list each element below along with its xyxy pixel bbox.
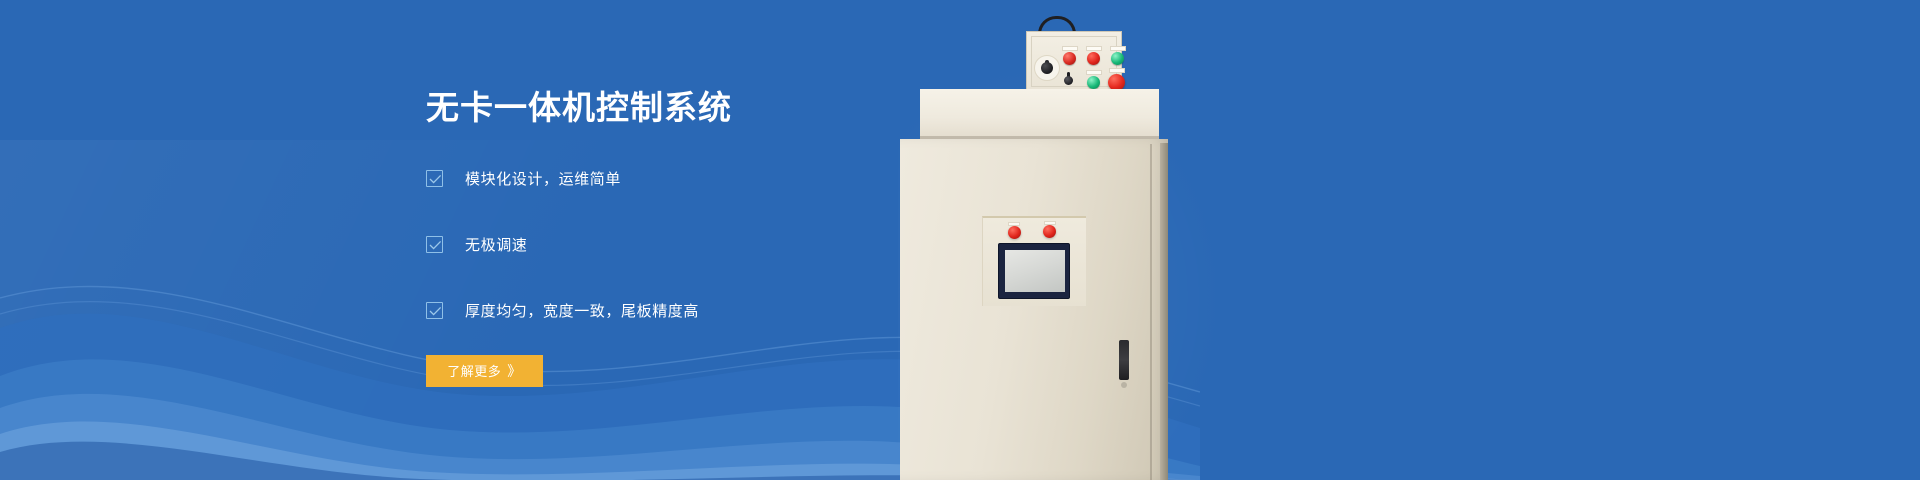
learn-more-button[interactable]: 了解更多 》 bbox=[426, 355, 543, 387]
button-green-start[interactable] bbox=[1087, 76, 1100, 89]
hero-banner: 无卡一体机控制系统 模块化设计，运维简单 无极调速 bbox=[0, 0, 1920, 480]
cabinet-door-seam bbox=[1150, 144, 1152, 480]
feature-label: 模块化设计，运维简单 bbox=[465, 168, 621, 189]
button-label-plate bbox=[1110, 46, 1126, 51]
double-chevron-right-icon: 》 bbox=[507, 364, 522, 378]
check-square-icon bbox=[426, 302, 443, 319]
product-image-control-cabinet bbox=[898, 0, 1920, 480]
feature-item-3: 厚度均匀，宽度一致，尾板精度高 bbox=[426, 294, 946, 327]
feature-spacer-1 bbox=[426, 195, 946, 228]
button-label-plate bbox=[1062, 46, 1078, 51]
hmi-button-red-right[interactable] bbox=[1043, 225, 1056, 238]
learn-more-label: 了解更多 bbox=[447, 361, 501, 380]
button-label-plate bbox=[1086, 46, 1102, 51]
feature-item-2: 无极调速 bbox=[426, 228, 946, 261]
feature-label: 厚度均匀，宽度一致，尾板精度高 bbox=[465, 300, 699, 321]
feature-item-1: 模块化设计，运维简单 bbox=[426, 162, 946, 195]
feature-label: 无极调速 bbox=[465, 234, 527, 255]
button-label-plate bbox=[1086, 70, 1102, 75]
cabinet-top-hood bbox=[920, 89, 1159, 140]
check-square-icon bbox=[426, 236, 443, 253]
cabinet-body bbox=[900, 139, 1168, 480]
cabinet-side-panel bbox=[1160, 143, 1168, 480]
feature-spacer-2 bbox=[426, 261, 946, 294]
cabinet-door-lock[interactable] bbox=[1119, 340, 1129, 380]
cabinet-door-lock-knob[interactable] bbox=[1121, 382, 1127, 388]
banner-content: 无卡一体机控制系统 模块化设计，运维简单 无极调速 bbox=[426, 88, 946, 387]
hmi-button-red-left[interactable] bbox=[1008, 226, 1021, 239]
feature-list: 模块化设计，运维简单 无极调速 厚度均匀，宽度一致，尾板精度高 bbox=[426, 162, 946, 327]
hmi-screen-surface[interactable] bbox=[1005, 250, 1065, 292]
rotary-selector-knob[interactable] bbox=[1041, 62, 1053, 74]
button-label-plate bbox=[1109, 68, 1125, 73]
hmi-touchscreen[interactable] bbox=[998, 243, 1070, 299]
small-toggle-switch[interactable] bbox=[1064, 76, 1073, 85]
page-title: 无卡一体机控制系统 bbox=[426, 88, 946, 128]
indicator-green-1[interactable] bbox=[1111, 52, 1124, 65]
indicator-red-2[interactable] bbox=[1087, 52, 1100, 65]
indicator-red-1[interactable] bbox=[1063, 52, 1076, 65]
check-square-icon bbox=[426, 170, 443, 187]
